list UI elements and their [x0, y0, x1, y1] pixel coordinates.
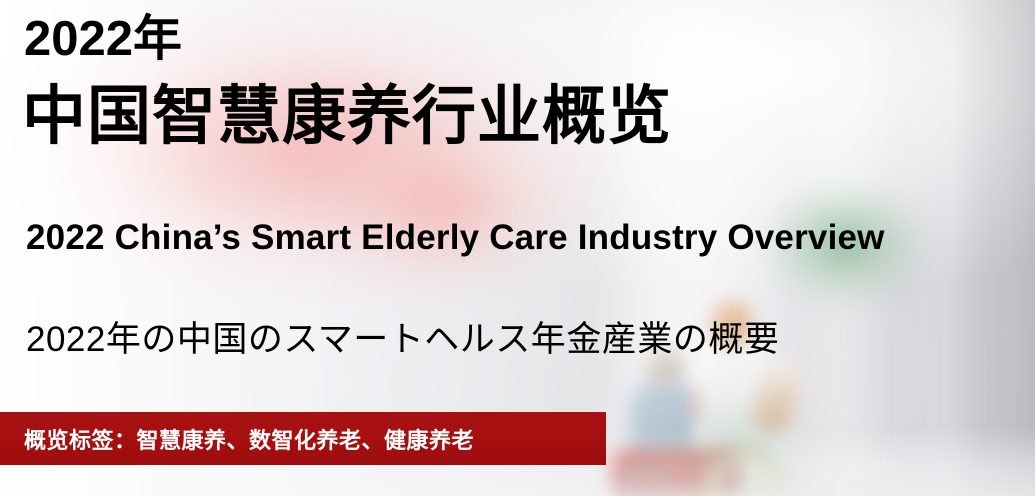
overview-tags-text: 概览标签：智慧康养、数智化养老、健康养老: [24, 423, 474, 455]
page-title-year: 2022年: [24, 15, 182, 64]
slide-canvas: 2022年 中国智慧康养行业概览 2022 China’s Smart Elde…: [0, 0, 1035, 496]
page-subtitle-japanese: 2022年の中国のスマートヘルス年金産業の概要: [26, 322, 779, 357]
page-subtitle-english: 2022 China’s Smart Elderly Care Industry…: [26, 220, 885, 255]
page-title-chinese: 中国智慧康养行业概览: [22, 84, 672, 148]
overview-tags-banner: 概览标签：智慧康养、数智化养老、健康养老: [0, 412, 606, 465]
slide-content: 2022年 中国智慧康养行业概览 2022 China’s Smart Elde…: [0, 0, 1035, 496]
